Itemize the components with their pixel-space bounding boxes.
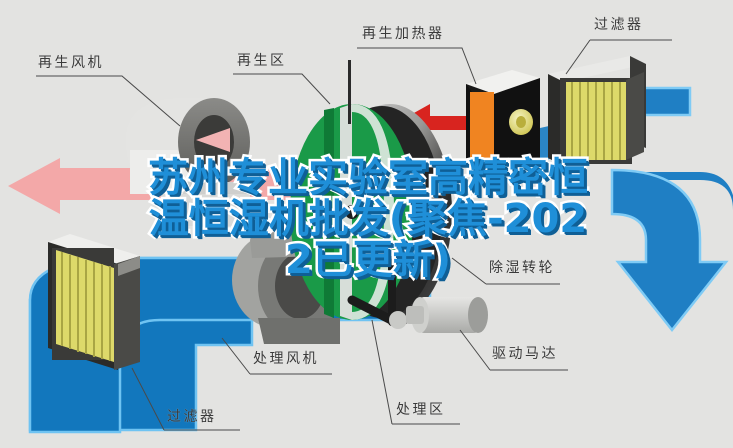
callout-drive-motor: 驱动马达 bbox=[492, 347, 558, 364]
callout-regen-fan: 再生风机 bbox=[38, 56, 104, 73]
callout-filter-bottom: 过滤器 bbox=[167, 410, 217, 427]
callout-regen-zone: 再生区 bbox=[237, 54, 287, 71]
regeneration-heater bbox=[466, 70, 540, 176]
callout-rotor: 除湿转轮 bbox=[489, 261, 555, 278]
diagram-image: 再生风机 再生区 再生加热器 过滤器 除湿转轮 驱动马达 处理区 处理风机 过滤… bbox=[0, 0, 733, 448]
dehumidifier-diagram bbox=[0, 0, 733, 448]
callout-regen-heater: 再生加热器 bbox=[362, 27, 445, 44]
callout-process-fan: 处理风机 bbox=[253, 352, 319, 369]
air-filter-top bbox=[548, 56, 646, 166]
drive-motor bbox=[406, 297, 488, 333]
callout-process-zone: 处理区 bbox=[396, 403, 446, 420]
callout-filter-top: 过滤器 bbox=[594, 18, 644, 35]
air-filter-bottom bbox=[48, 234, 140, 370]
